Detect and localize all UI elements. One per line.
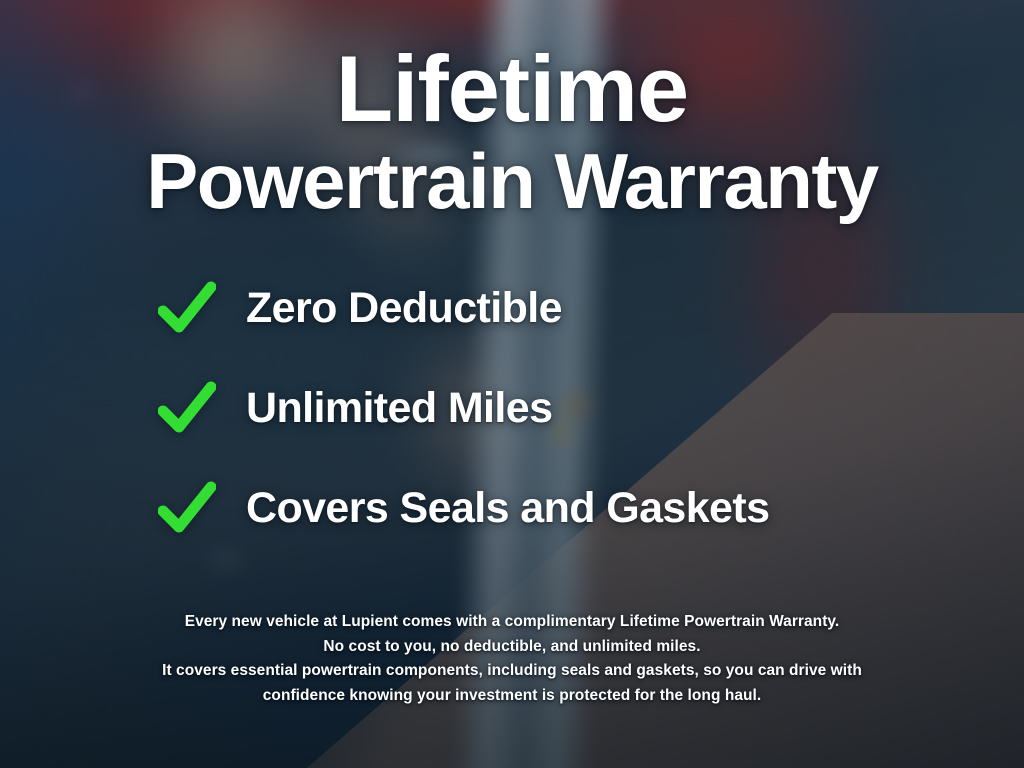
description-line-4: confidence knowing your investment is pr… [40, 684, 984, 708]
benefits-list: Zero Deductible Unlimited Miles Covers S… [158, 279, 984, 537]
green-checkmark-icon [158, 279, 216, 337]
banner-headline: Lifetime Powertrain Warranty [40, 44, 984, 219]
description-line-2: No cost to you, no deductible, and unlim… [40, 635, 984, 659]
headline-line-2: Powertrain Warranty [40, 144, 984, 219]
benefit-label-unlimited-miles: Unlimited Miles [246, 384, 552, 433]
list-item: Covers Seals and Gaskets [158, 479, 984, 537]
lifetime-powertrain-warranty-banner: Lifetime Powertrain Warranty Zero Deduct… [0, 0, 1024, 768]
green-checkmark-icon [158, 379, 216, 437]
banner-description: Every new vehicle at Lupient comes with … [40, 610, 984, 742]
list-item: Zero Deductible [158, 279, 984, 337]
benefit-label-covers-seals-and-gaskets: Covers Seals and Gaskets [246, 484, 769, 533]
green-checkmark-icon [158, 479, 216, 537]
description-line-3: It covers essential powertrain component… [40, 659, 984, 683]
benefit-label-zero-deductible: Zero Deductible [246, 284, 562, 333]
banner-content: Lifetime Powertrain Warranty Zero Deduct… [0, 0, 1024, 768]
description-line-1: Every new vehicle at Lupient comes with … [40, 610, 984, 634]
list-item: Unlimited Miles [158, 379, 984, 437]
headline-line-1: Lifetime [40, 44, 984, 134]
